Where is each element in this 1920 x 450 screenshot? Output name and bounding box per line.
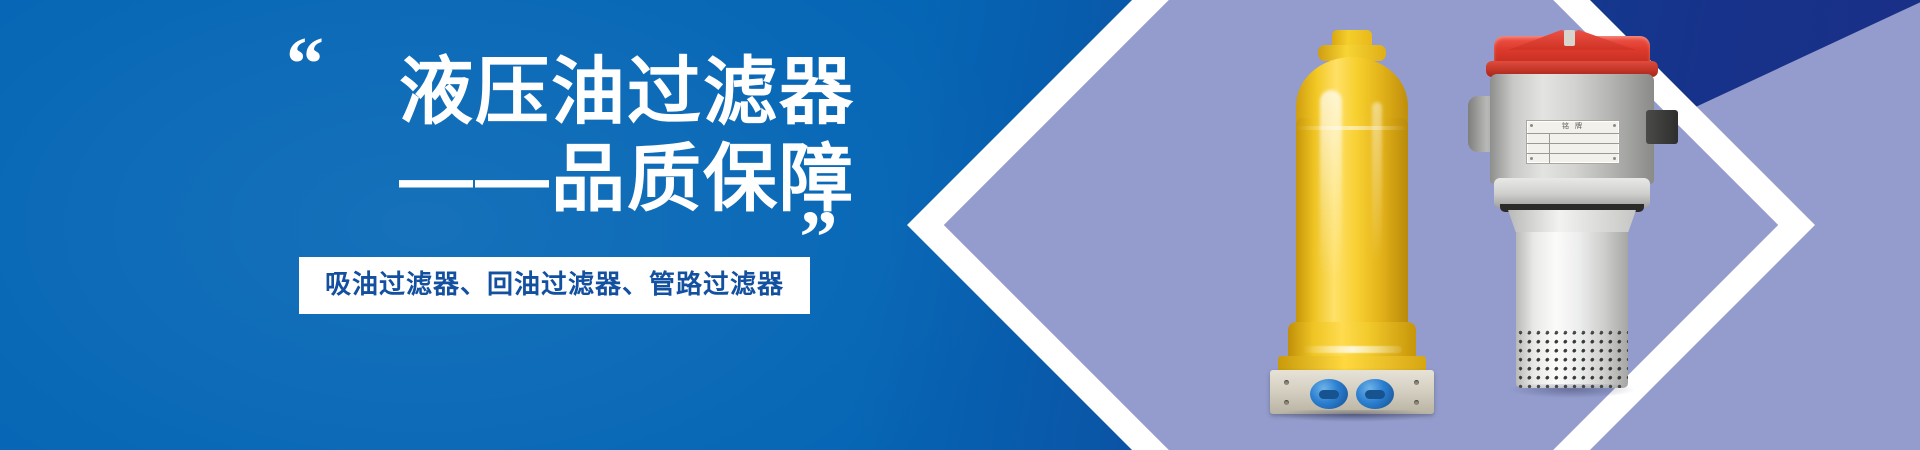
yellow-filter-product bbox=[1268, 30, 1436, 420]
nameplate-divider bbox=[1549, 133, 1550, 163]
subtitle-badge: 吸油过滤器、回油过滤器、管路过滤器 bbox=[299, 257, 810, 314]
nameplate-rule bbox=[1527, 133, 1619, 134]
mounting-hole bbox=[1284, 400, 1289, 405]
grey-filter-product: 铭 牌 bbox=[1460, 28, 1690, 428]
mounting-hole bbox=[1414, 380, 1419, 385]
filter-tube-taper bbox=[1508, 210, 1636, 232]
nameplate-screw bbox=[1530, 124, 1533, 127]
product-nameplate: 铭 牌 bbox=[1526, 120, 1620, 164]
yellow-filter-shoulder bbox=[1296, 57, 1408, 127]
headline-line-1: 液压油过滤器 bbox=[0, 48, 855, 135]
mounting-hole bbox=[1284, 380, 1289, 385]
yellow-filter-base-plate bbox=[1270, 370, 1434, 414]
port-slot bbox=[1365, 390, 1385, 399]
yellow-filter-seam bbox=[1296, 126, 1408, 130]
promotional-banner: “ 液压油过滤器 ——品质保障 „ 吸油过滤器、回油过滤器、管路过滤器 bbox=[0, 0, 1920, 450]
headline-line-2: ——品质保障 bbox=[0, 135, 855, 222]
quote-close-icon: „ bbox=[800, 160, 836, 236]
grey-filter-shadow bbox=[1510, 384, 1634, 398]
product-images: 铭 牌 bbox=[1040, 0, 1920, 450]
yellow-filter-flange-highlight bbox=[1302, 346, 1402, 353]
yellow-filter-shadow bbox=[1278, 410, 1428, 422]
headline-block: “ 液压油过滤器 ——品质保障 „ 吸油过滤器、回油过滤器、管路过滤器 bbox=[0, 0, 1040, 450]
yellow-filter-body bbox=[1296, 118, 1408, 330]
nameplate-title: 铭 牌 bbox=[1527, 122, 1619, 132]
subtitle-text: 吸油过滤器、回油过滤器、管路过滤器 bbox=[325, 270, 784, 299]
nameplate-screw bbox=[1613, 124, 1616, 127]
housing-side-boss-right bbox=[1646, 110, 1678, 144]
mounting-hole bbox=[1414, 400, 1419, 405]
red-lid-notch bbox=[1564, 30, 1575, 46]
yellow-filter-highlight-secondary bbox=[1372, 102, 1382, 262]
perforated-mesh-offset bbox=[1520, 333, 1624, 385]
port-slot bbox=[1319, 390, 1339, 399]
page-title: 液压油过滤器 ——品质保障 bbox=[0, 48, 855, 223]
nameplate-screw bbox=[1613, 157, 1616, 160]
nameplate-rule bbox=[1527, 143, 1619, 144]
nameplate-screw bbox=[1530, 157, 1533, 160]
nameplate-rule bbox=[1527, 153, 1619, 154]
yellow-filter-highlight bbox=[1320, 90, 1342, 280]
